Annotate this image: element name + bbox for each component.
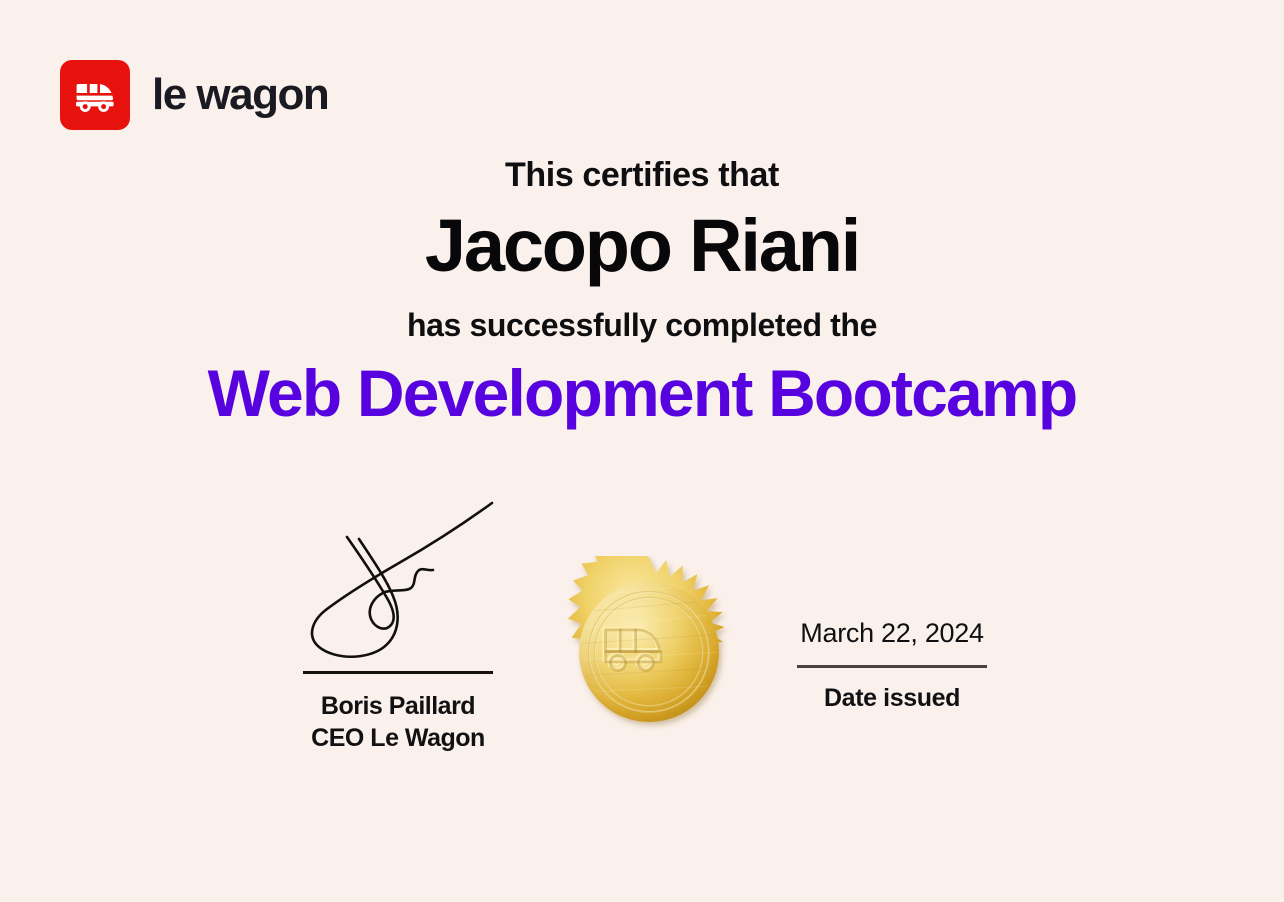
- date-rule: [797, 665, 987, 668]
- logo-tile: [60, 60, 130, 130]
- date-value: March 22, 2024: [797, 620, 987, 665]
- signature-rule: [303, 671, 493, 674]
- course-name: Web Development Bootcamp: [0, 360, 1284, 426]
- brand-wordmark: le wagon: [152, 73, 328, 117]
- signer-title: CEO Le Wagon: [295, 722, 501, 754]
- date-caption: Date issued: [797, 686, 987, 711]
- signer-name: Boris Paillard: [295, 690, 501, 722]
- date-block: March 22, 2024 Date issued: [797, 620, 987, 711]
- brand-logo: le wagon: [60, 60, 328, 130]
- completed-line: has successfully completed the: [0, 309, 1284, 341]
- signature-block: Boris Paillard CEO Le Wagon: [295, 495, 501, 754]
- certifies-line: This certifies that: [0, 158, 1284, 192]
- signature-caption: Boris Paillard CEO Le Wagon: [295, 690, 501, 754]
- handwritten-signature-icon: [295, 495, 501, 671]
- gold-foil-seal-icon: [553, 556, 745, 748]
- recipient-name: Jacopo Riani: [0, 209, 1284, 283]
- van-icon: [72, 72, 118, 118]
